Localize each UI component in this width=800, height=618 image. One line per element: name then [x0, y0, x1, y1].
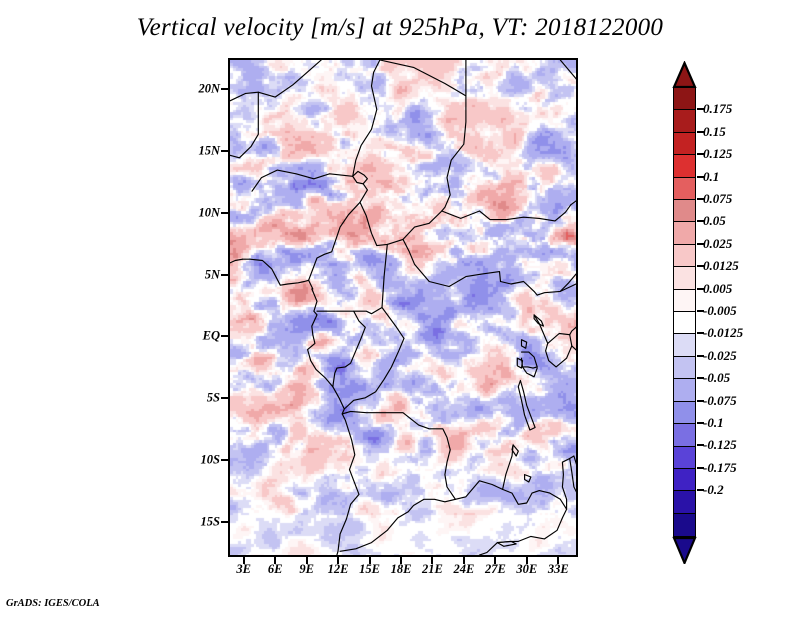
colorbar-label: 0.175: [703, 101, 732, 117]
lat-tick: [221, 212, 228, 214]
lon-label: 6E: [268, 562, 283, 577]
lat-tick: [221, 521, 228, 523]
lon-label: 30E: [516, 562, 537, 577]
colorbar[interactable]: [673, 87, 696, 537]
colorbar-label: -0.1: [703, 415, 724, 431]
colorbar-label: 0.15: [703, 124, 726, 140]
colorbar-swatch: [673, 333, 696, 357]
lat-label: 10N: [198, 205, 220, 220]
colorbar-swatch: [673, 109, 696, 133]
colorbar-label: -0.05: [703, 370, 730, 386]
lon-label: 21E: [422, 562, 443, 577]
colorbar-label: 0.0125: [703, 258, 739, 274]
lon-label: 9E: [299, 562, 314, 577]
colorbar-swatch: [673, 132, 696, 156]
colorbar-label: -0.125: [703, 437, 737, 453]
lon-label: 3E: [236, 562, 251, 577]
colorbar-swatch: [673, 244, 696, 268]
colorbar-swatch: [673, 154, 696, 178]
lon-label: 33E: [548, 562, 569, 577]
colorbar-swatch: [673, 289, 696, 313]
colorbar-swatch: [673, 378, 696, 402]
colorbar-label: 0.05: [703, 213, 726, 229]
lat-label: 20N: [198, 81, 220, 96]
lon-label: 12E: [328, 562, 349, 577]
colorbar-swatch: [673, 490, 696, 514]
colorbar-swatch: [673, 199, 696, 223]
colorbar-bottom-arrow: [671, 536, 698, 564]
colorbar-label: -0.075: [703, 393, 737, 409]
page-title: Vertical velocity [m/s] at 925hPa, VT: 2…: [0, 14, 800, 42]
colorbar-swatch: [673, 468, 696, 492]
grads-credit: GrADS: IGES/COLA: [6, 598, 100, 609]
colorbar-swatch: [673, 513, 696, 537]
map-panel[interactable]: 20N15N10N5NEQ5S10S15S 3E6E9E12E15E18E21E…: [228, 58, 578, 557]
colorbar-label: -0.025: [703, 348, 737, 364]
colorbar-label: -0.2: [703, 482, 724, 498]
colorbar-swatch: [673, 177, 696, 201]
colorbar-label: 0.005: [703, 281, 732, 297]
lat-label: 10S: [201, 453, 220, 468]
lat-label: 15S: [201, 515, 220, 530]
colorbar-label: 0.025: [703, 236, 732, 252]
lat-label: EQ: [203, 329, 220, 344]
colorbar-swatch: [673, 446, 696, 470]
lat-tick: [221, 274, 228, 276]
colorbar-label: 0.1: [703, 169, 719, 185]
colorbar-swatch: [673, 266, 696, 290]
lat-tick: [221, 459, 228, 461]
colorbar-swatch: [673, 356, 696, 380]
colorbar-label: -0.0125: [703, 325, 743, 341]
lon-label: 18E: [391, 562, 412, 577]
colorbar-label: -0.005: [703, 303, 737, 319]
colorbar-swatch: [673, 87, 696, 111]
colorbar-swatch: [673, 311, 696, 335]
colorbar-swatch: [673, 401, 696, 425]
colorbar-label: 0.075: [703, 191, 732, 207]
lat-label: 5S: [207, 391, 220, 406]
lat-tick: [221, 150, 228, 152]
lat-label: 15N: [198, 143, 220, 158]
longitude-axis: 3E6E9E12E15E18E21E24E27E30E33E: [228, 58, 578, 557]
colorbar-swatch: [673, 221, 696, 245]
lon-label: 27E: [485, 562, 506, 577]
colorbar-top-arrow: [671, 61, 698, 88]
lat-label: 5N: [205, 267, 220, 282]
colorbar-label: 0.125: [703, 146, 732, 162]
lon-label: 15E: [359, 562, 380, 577]
colorbar-label: -0.175: [703, 460, 737, 476]
lat-tick: [221, 397, 228, 399]
colorbar-swatch: [673, 423, 696, 447]
lat-tick: [221, 88, 228, 90]
lon-label: 24E: [453, 562, 474, 577]
lat-tick: [221, 335, 228, 337]
